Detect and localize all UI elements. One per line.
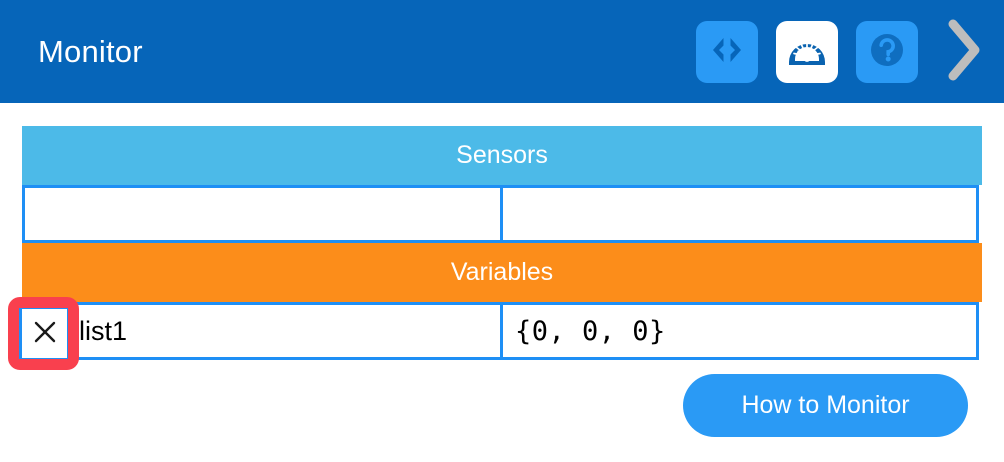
table-row: list1 {0, 0, 0} — [22, 302, 982, 360]
how-to-monitor-button[interactable]: How to Monitor — [683, 374, 968, 437]
variable-name-label: list1 — [79, 316, 127, 347]
close-icon — [31, 318, 59, 349]
next-button[interactable] — [938, 17, 990, 87]
code-icon — [708, 35, 746, 68]
page-title: Monitor — [38, 34, 143, 70]
monitor-button[interactable] — [776, 21, 838, 83]
monitor-table: Sensors Variables list1 {0, 0, 0} — [22, 126, 982, 360]
chevron-right-icon — [944, 19, 984, 84]
variables-section-header: Variables — [22, 243, 982, 302]
help-button[interactable] — [856, 21, 918, 83]
top-bar: Monitor — [0, 0, 1004, 103]
code-button[interactable] — [696, 21, 758, 83]
sensor-value-cell[interactable] — [500, 185, 979, 243]
variable-value-cell[interactable]: {0, 0, 0} — [500, 302, 979, 360]
variable-value-label: {0, 0, 0} — [515, 316, 666, 347]
question-mark-icon — [867, 30, 907, 73]
sensors-row — [22, 185, 982, 243]
sensor-name-cell[interactable] — [22, 185, 503, 243]
top-bar-actions — [696, 0, 996, 103]
variable-name-cell[interactable]: list1 — [22, 302, 503, 360]
gauge-icon — [786, 33, 828, 70]
delete-variable-button[interactable] — [19, 308, 68, 359]
sensors-section-header: Sensors — [22, 126, 982, 185]
monitor-screen: Monitor — [0, 0, 1004, 462]
